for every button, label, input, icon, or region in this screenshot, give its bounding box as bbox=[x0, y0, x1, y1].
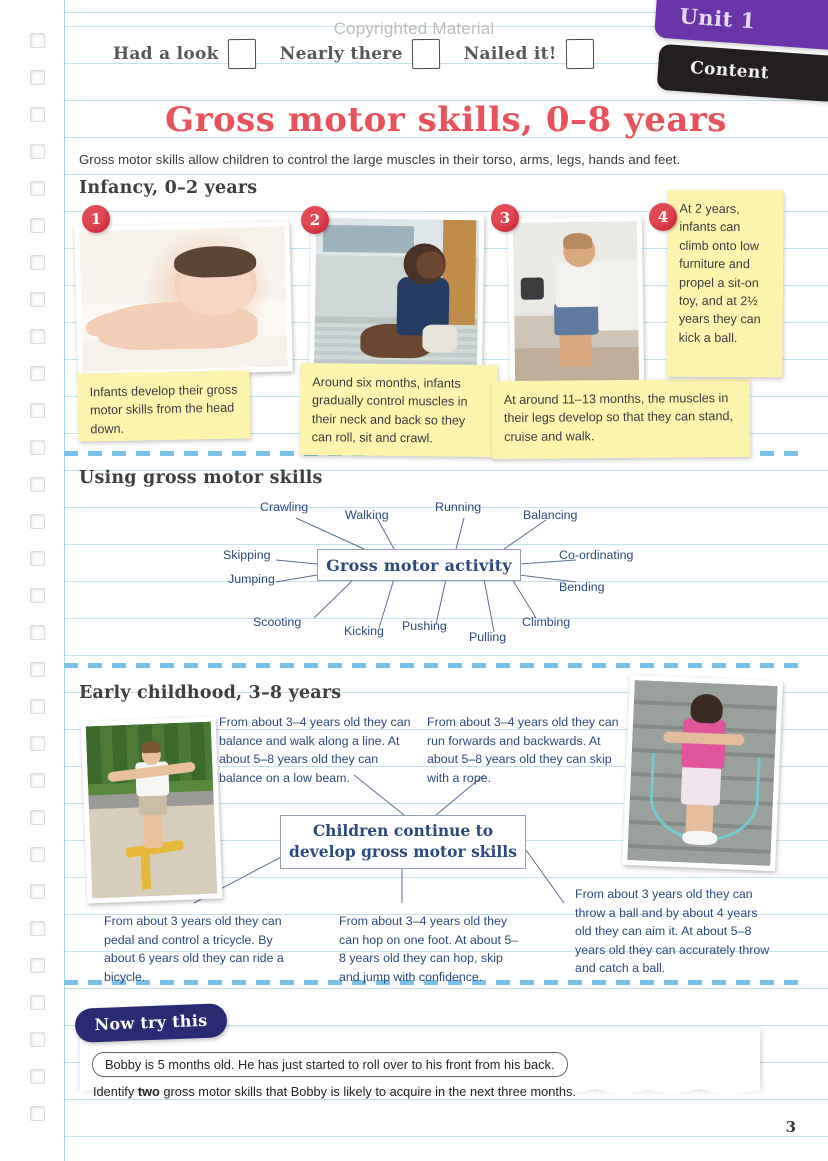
checkbox-had-a-look[interactable] bbox=[228, 39, 256, 69]
section-heading-using: Using gross motor skills bbox=[79, 468, 323, 488]
page-number: 3 bbox=[786, 1118, 796, 1136]
binder-hole bbox=[30, 588, 45, 603]
toddler-standing-photo bbox=[508, 216, 644, 389]
infancy-note-4: At 2 years, infants can climb onto low f… bbox=[666, 190, 783, 378]
early-branch-running: From about 3–4 years old they can run fo… bbox=[427, 713, 619, 787]
binder-hole bbox=[30, 144, 45, 159]
early-branch-balance: From about 3–4 years old they can balanc… bbox=[219, 713, 419, 787]
binder-hole bbox=[30, 958, 45, 973]
intro-paragraph: Gross motor skills allow children to con… bbox=[79, 152, 779, 167]
binder-hole bbox=[30, 551, 45, 566]
early-center-line-2: develop gross motor skills bbox=[289, 842, 517, 863]
checkbox-nearly-there[interactable] bbox=[412, 39, 440, 69]
mindmap-branch-bending: Bending bbox=[559, 580, 604, 594]
mindmap-branch-scooting: Scooting bbox=[253, 615, 301, 629]
binder-hole bbox=[30, 477, 45, 492]
progress-label: Nearly there bbox=[280, 44, 403, 64]
task-instruction: Identify two gross motor skills that Bob… bbox=[93, 1084, 576, 1099]
progress-item-had-a-look[interactable]: Had a look bbox=[113, 39, 280, 69]
mindmap-branch-skipping: Skipping bbox=[223, 548, 271, 562]
early-center-line-1: Children continue to bbox=[313, 821, 493, 842]
step-badge-4: 4 bbox=[649, 203, 677, 231]
binder-hole bbox=[30, 1069, 45, 1084]
scenario-box: Bobby is 5 months old. He has just start… bbox=[92, 1052, 568, 1077]
step-badge-3: 3 bbox=[491, 204, 519, 232]
progress-label: Had a look bbox=[113, 44, 219, 64]
early-branch-throwing: From about 3 years old they can throw a … bbox=[575, 885, 775, 978]
mindmap-branch-pulling: Pulling bbox=[469, 630, 506, 644]
binder-hole bbox=[30, 514, 45, 529]
early-branch-hopping: From about 3–4 years old they can hop on… bbox=[339, 912, 525, 986]
unit-tab-label: Unit 1 bbox=[679, 3, 757, 33]
progress-item-nearly-there[interactable]: Nearly there bbox=[280, 39, 464, 69]
girl-skipping-rope-photo bbox=[622, 675, 783, 871]
boy-balance-beam-photo bbox=[81, 716, 223, 903]
binder-hole bbox=[30, 329, 45, 344]
task-text-after: gross motor skills that Bobby is likely … bbox=[160, 1084, 576, 1099]
baby-tummy-time-photo bbox=[74, 221, 293, 376]
infancy-note-2: Around six months, infants gradually con… bbox=[300, 363, 498, 457]
step-badge-1: 1 bbox=[82, 205, 110, 233]
binder-hole bbox=[30, 625, 45, 640]
mindmap-branch-walking: Walking bbox=[345, 508, 389, 522]
binder-hole bbox=[30, 662, 45, 677]
infancy-note-3: At around 11–13 months, the muscles in t… bbox=[492, 379, 751, 459]
early-mindmap-center-node: Children continue to develop gross motor… bbox=[280, 815, 526, 869]
now-try-this-badge: Now try this bbox=[74, 1003, 227, 1043]
gross-motor-activity-mindmap: Gross motor activity Crawling Walking Ru… bbox=[64, 490, 828, 650]
binder-hole bbox=[30, 995, 45, 1010]
binder-hole bbox=[30, 921, 45, 936]
binder-hole bbox=[30, 1106, 45, 1121]
step-badge-2: 2 bbox=[301, 206, 329, 234]
progress-item-nailed-it[interactable]: Nailed it! bbox=[464, 39, 594, 69]
mindmap-branch-running: Running bbox=[435, 500, 481, 514]
mindmap-branch-coordinating: Co-ordinating bbox=[559, 548, 633, 562]
mindmap-center-node: Gross motor activity bbox=[317, 549, 521, 581]
binder-hole bbox=[30, 181, 45, 196]
mindmap-branch-balancing: Balancing bbox=[523, 508, 577, 522]
binder-hole bbox=[30, 70, 45, 85]
early-branch-tricycle: From about 3 years old they can pedal an… bbox=[104, 912, 294, 986]
binder-hole bbox=[30, 1032, 45, 1047]
task-text-bold: two bbox=[138, 1084, 160, 1099]
mindmap-branch-climbing: Climbing bbox=[522, 615, 570, 629]
mindmap-branch-kicking: Kicking bbox=[344, 624, 384, 638]
checkbox-nailed-it[interactable] bbox=[565, 39, 593, 69]
binder-hole bbox=[30, 403, 45, 418]
task-text-before: Identify bbox=[93, 1084, 138, 1099]
page-title: Gross motor skills, 0–8 years bbox=[64, 100, 828, 140]
binder-hole bbox=[30, 736, 45, 751]
binder-hole bbox=[30, 218, 45, 233]
mindmap-branch-pushing: Pushing bbox=[402, 619, 447, 633]
progress-tracker: Had a look Nearly there Nailed it! bbox=[113, 39, 594, 69]
section-divider-2 bbox=[64, 663, 808, 668]
now-try-this-label: Now try this bbox=[75, 1010, 228, 1035]
binder-hole bbox=[30, 847, 45, 862]
mindmap-branch-crawling: Crawling bbox=[260, 500, 308, 514]
mindmap-branch-jumping: Jumping bbox=[228, 572, 275, 586]
binder-hole bbox=[30, 292, 45, 307]
binder-hole bbox=[30, 255, 45, 270]
content-tab-label: Content bbox=[690, 58, 770, 83]
binder-hole bbox=[30, 699, 45, 714]
binder-hole bbox=[30, 366, 45, 381]
binder-hole bbox=[30, 440, 45, 455]
textbook-page: Copyrighted Material Had a look Nearly t… bbox=[0, 0, 828, 1161]
progress-label: Nailed it! bbox=[464, 44, 557, 64]
binder-hole bbox=[30, 773, 45, 788]
binder-hole-column bbox=[0, 0, 64, 1161]
infancy-note-1: Infants develop their gross motor skills… bbox=[77, 370, 250, 441]
binder-hole bbox=[30, 107, 45, 122]
binder-hole bbox=[30, 884, 45, 899]
binder-hole bbox=[30, 810, 45, 825]
section-heading-infancy: Infancy, 0–2 years bbox=[79, 178, 257, 198]
mindmap-center-label: Gross motor activity bbox=[326, 556, 512, 575]
